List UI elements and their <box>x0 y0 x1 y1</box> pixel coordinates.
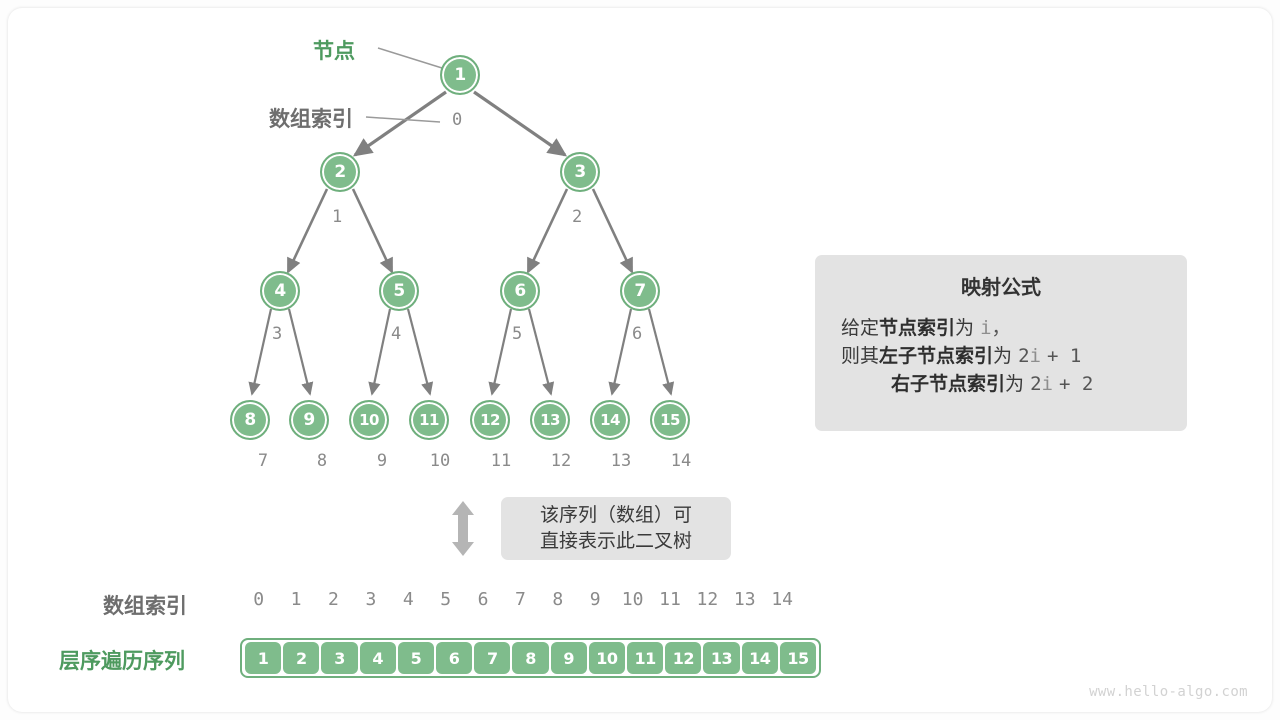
tree-node-14[interactable]: 14 <box>590 400 630 440</box>
formula-line2-i: i <box>1030 345 1041 367</box>
tree-node-11[interactable]: 11 <box>409 400 449 440</box>
node-index-1: 1 <box>332 207 342 227</box>
formula-line1-i: i <box>980 317 991 339</box>
array-value-cell[interactable]: 15 <box>780 642 816 674</box>
array-index-cell: 3 <box>352 589 389 610</box>
array-value-cell[interactable]: 10 <box>589 642 625 674</box>
tree-node-9[interactable]: 9 <box>289 400 329 440</box>
array-value-cell[interactable]: 3 <box>321 642 357 674</box>
tree-node-8[interactable]: 8 <box>230 400 270 440</box>
sequence-note-line-2: 直接表示此二叉树 <box>540 529 692 554</box>
formula-line3-bold: 右子节点索引 <box>891 373 1005 395</box>
tree-node-10[interactable]: 10 <box>349 400 389 440</box>
array-index-cell: 14 <box>763 589 800 610</box>
array-index-cell: 11 <box>651 589 688 610</box>
array-index-cell: 8 <box>539 589 576 610</box>
formula-line1-prefix: 给定 <box>841 317 879 339</box>
array-value-cell[interactable]: 7 <box>474 642 510 674</box>
callout-array-index-label: 数组索引 <box>269 103 353 133</box>
node-index-10: 10 <box>420 451 460 471</box>
formula-line3-rest: + 2 <box>1059 373 1093 395</box>
level-order-array: 1 2 3 4 5 6 7 8 9 10 11 12 13 14 15 <box>240 638 821 678</box>
tree-node-7[interactable]: 7 <box>620 271 660 311</box>
formula-line-2: 则其左子节点索引为 2i + 1 <box>815 342 1187 370</box>
array-value-cell[interactable]: 1 <box>245 642 281 674</box>
node-index-7: 7 <box>243 451 283 471</box>
tree-node-2[interactable]: 2 <box>320 152 360 192</box>
array-index-cell: 4 <box>390 589 427 610</box>
tree-node-15[interactable]: 15 <box>650 400 690 440</box>
array-index-row: 0 1 2 3 4 5 6 7 8 9 10 11 12 13 14 <box>240 589 801 610</box>
array-value-cell[interactable]: 8 <box>512 642 548 674</box>
formula-line2-coef: 2 <box>1018 345 1029 367</box>
formula-line2-rest: + 1 <box>1047 345 1081 367</box>
node-index-9: 9 <box>362 451 402 471</box>
tree-node-5[interactable]: 5 <box>379 271 419 311</box>
array-value-cell[interactable]: 2 <box>283 642 319 674</box>
array-index-cell: 13 <box>726 589 763 610</box>
sequence-note-card: 该序列（数组）可 直接表示此二叉树 <box>501 497 731 560</box>
callout-node-label: 节点 <box>313 35 355 65</box>
array-value-cell[interactable]: 5 <box>398 642 434 674</box>
array-index-cell: 2 <box>315 589 352 610</box>
array-value-cell[interactable]: 9 <box>551 642 587 674</box>
array-index-cell: 9 <box>577 589 614 610</box>
array-index-cell: 0 <box>240 589 277 610</box>
tree-node-1[interactable]: 1 <box>440 55 480 95</box>
node-index-14: 14 <box>661 451 701 471</box>
array-index-cell: 1 <box>277 589 314 610</box>
node-index-11: 11 <box>481 451 521 471</box>
array-sequence-row-label: 层序遍历序列 <box>59 645 185 675</box>
tree-node-13[interactable]: 13 <box>530 400 570 440</box>
formula-line3-i: i <box>1042 373 1053 395</box>
array-index-row-label: 数组索引 <box>103 590 187 620</box>
array-index-cell: 6 <box>464 589 501 610</box>
node-index-6: 6 <box>632 324 642 344</box>
diagram-canvas: 节点 数组索引 1 2 3 4 5 6 7 8 9 10 11 12 13 14… <box>0 0 1280 720</box>
sequence-note-line-1: 该序列（数组）可 <box>540 503 692 528</box>
formula-line-3: 右子节点索引为 2i + 2 <box>815 370 1187 398</box>
array-value-cell[interactable]: 13 <box>703 642 739 674</box>
tree-node-6[interactable]: 6 <box>500 271 540 311</box>
watermark: www.hello-algo.com <box>1089 684 1248 700</box>
array-index-cell: 10 <box>614 589 651 610</box>
node-index-12: 12 <box>541 451 581 471</box>
array-value-cell[interactable]: 11 <box>627 642 663 674</box>
formula-line1-mid: 为 <box>955 317 974 339</box>
node-index-2: 2 <box>572 207 582 227</box>
formula-line2-bold: 左子节点索引 <box>879 345 993 367</box>
node-index-0: 0 <box>452 110 462 130</box>
formula-line1-comma: ， <box>992 317 1011 339</box>
formula-line-1: 给定节点索引为 i， <box>815 314 1187 342</box>
node-index-4: 4 <box>391 324 401 344</box>
array-value-cell[interactable]: 12 <box>665 642 701 674</box>
tree-node-12[interactable]: 12 <box>470 400 510 440</box>
array-value-cell[interactable]: 4 <box>360 642 396 674</box>
formula-line1-bold: 节点索引 <box>879 317 955 339</box>
node-index-3: 3 <box>272 324 282 344</box>
array-index-cell: 12 <box>689 589 726 610</box>
node-index-5: 5 <box>512 324 522 344</box>
formula-line3-mid: 为 <box>1005 373 1024 395</box>
formula-line2-mid: 为 <box>993 345 1012 367</box>
array-value-cell[interactable]: 6 <box>436 642 472 674</box>
array-index-cell: 7 <box>502 589 539 610</box>
formula-line3-coef: 2 <box>1030 373 1041 395</box>
array-value-cell[interactable]: 14 <box>742 642 778 674</box>
node-index-8: 8 <box>302 451 342 471</box>
tree-node-3[interactable]: 3 <box>560 152 600 192</box>
formula-title: 映射公式 <box>815 271 1187 300</box>
array-index-cell: 5 <box>427 589 464 610</box>
mapping-formula-card: 映射公式 给定节点索引为 i， 则其左子节点索引为 2i + 1 右子节点索引为… <box>815 255 1187 431</box>
tree-node-4[interactable]: 4 <box>260 271 300 311</box>
node-index-13: 13 <box>601 451 641 471</box>
formula-line2-prefix: 则其 <box>841 345 879 367</box>
